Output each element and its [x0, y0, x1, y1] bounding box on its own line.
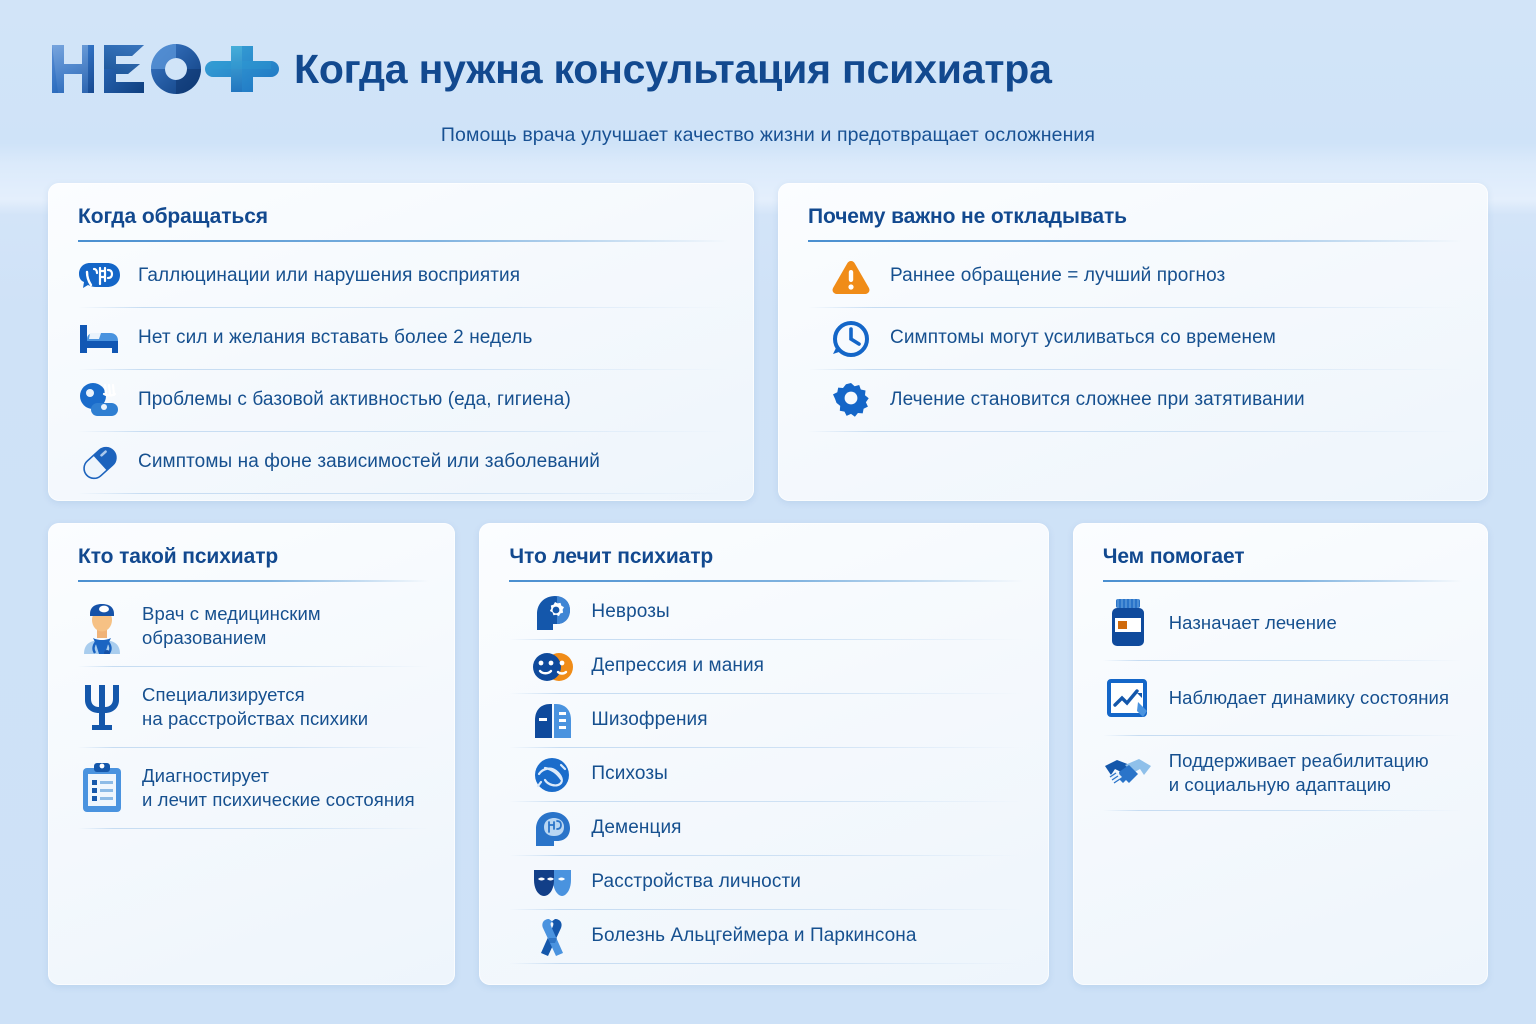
list-item-label: Специализируется на расстройствах психик… — [142, 683, 368, 730]
list-item-label: Болезнь Альцгеймера и Паркинсона — [591, 924, 916, 948]
list-item-label: Раннее обращение = лучший прогноз — [890, 264, 1225, 288]
theater-masks-icon — [531, 862, 575, 904]
split-head-icon — [531, 700, 575, 742]
page-title: Когда нужна консультация психиатра — [294, 46, 1052, 93]
label-line-2: и социальную адаптацию — [1169, 774, 1391, 795]
title-divider — [808, 240, 1462, 242]
head-brain-icon — [531, 808, 575, 850]
gear-icon — [830, 381, 872, 421]
page-header: Когда нужна консультация психиатра — [0, 0, 1536, 108]
list-item-label: Лечение становится сложнее при затятиван… — [890, 388, 1305, 412]
treats-list: Неврозы Депрессия и мания — [509, 586, 1022, 964]
two-faces-icon — [531, 646, 575, 688]
head-gear-icon — [531, 592, 575, 634]
row-divider — [509, 963, 1022, 964]
list-item-label: Диагностирует и лечит психические состоя… — [142, 764, 415, 811]
label-line-2: и лечит психические состояния — [142, 789, 415, 810]
label-line-1: Специализируется — [142, 684, 305, 705]
title-divider — [78, 580, 429, 582]
doctor-avatar-icon — [78, 598, 126, 654]
clipboard-icon — [78, 760, 126, 816]
list-item-label: Симптомы на фоне зависимостей или заболе… — [138, 450, 600, 474]
card-title: Что лечит психиатр — [509, 545, 1022, 569]
label-line-2: образованием — [142, 627, 267, 648]
clock-icon — [830, 319, 872, 359]
list-item[interactable]: Раннее обращение = лучший прогноз — [808, 246, 1462, 307]
awareness-ribbon-icon — [531, 916, 575, 958]
psi-symbol-icon — [78, 679, 126, 735]
list-item-label: Назначает лечение — [1169, 611, 1337, 635]
list-item-label: Неврозы — [591, 600, 669, 624]
chart-pen-icon — [1103, 671, 1153, 725]
card-how-it-helps: Чем помогает Назначает лечение — [1073, 523, 1488, 985]
card-who-is-psychiatrist: Кто такой психиатр — [48, 523, 455, 985]
list-item[interactable]: Наблюдает динамику состояния — [1103, 661, 1462, 735]
when-list: Галлюцинации или нарушения восприятия Не… — [78, 246, 728, 494]
list-item-label: Врач с медицинским образованием — [142, 602, 321, 649]
label-line-1: Поддерживает реабилитацию — [1169, 750, 1429, 771]
row-divider — [1103, 810, 1462, 811]
top-row: Когда обращаться Галлюцинации или наруше… — [0, 183, 1536, 501]
helps-list: Назначает лечение Наблюдает динамику сос… — [1103, 586, 1462, 811]
list-item[interactable]: Нет сил и желания вставать более 2 недел… — [78, 308, 728, 369]
capsule-icon — [78, 443, 122, 483]
card-what-psychiatrist-treats: Что лечит психиатр Неврозы — [479, 523, 1048, 985]
card-why-not-delay: Почему важно не откладывать Раннее обращ… — [778, 183, 1488, 501]
list-item[interactable]: Лечение становится сложнее при затятиван… — [808, 370, 1462, 431]
list-item-label: Проблемы с базовой активностью (еда, гиг… — [138, 388, 571, 412]
row-divider — [808, 431, 1462, 432]
list-item[interactable]: Неврозы — [509, 586, 1022, 639]
list-item[interactable]: Психозы — [509, 748, 1022, 801]
list-item-label: Депрессия и мания — [591, 654, 764, 678]
title-divider — [1103, 580, 1462, 582]
list-item-label: Нет сил и желания вставать более 2 недел… — [138, 326, 532, 350]
list-item[interactable]: Болезнь Альцгеймера и Паркинсона — [509, 910, 1022, 963]
list-item[interactable]: Врач с медицинским образованием — [78, 586, 429, 666]
list-item-label: Расстройства личности — [591, 870, 801, 894]
list-item[interactable]: Галлюцинации или нарушения восприятия — [78, 246, 728, 307]
bottom-row: Кто такой психиатр — [0, 523, 1536, 985]
card-when-to-consult: Когда обращаться Галлюцинации или наруше… — [48, 183, 754, 501]
list-item[interactable]: Симптомы могут усиливаться со временем — [808, 308, 1462, 369]
list-item[interactable]: Проблемы с базовой активностью (еда, гиг… — [78, 370, 728, 431]
list-item[interactable]: Диагностирует и лечит психические состоя… — [78, 748, 429, 828]
list-item-label: Галлюцинации или нарушения восприятия — [138, 264, 520, 288]
warning-triangle-icon — [830, 257, 872, 297]
tangled-head-icon — [531, 754, 575, 796]
list-item[interactable]: Назначает лечение — [1103, 586, 1462, 660]
list-item-label: Психозы — [591, 762, 667, 786]
why-list: Раннее обращение = лучший прогноз Симпто… — [808, 246, 1462, 432]
list-item[interactable]: Специализируется на расстройствах психик… — [78, 667, 429, 747]
card-title: Кто такой психиатр — [78, 545, 429, 569]
list-item[interactable]: Шизофрения — [509, 694, 1022, 747]
page-subtitle: Помощь врача улучшает качество жизни и п… — [0, 124, 1536, 147]
list-item[interactable]: Симптомы на фоне зависимостей или заболе… — [78, 432, 728, 493]
list-item-label: Симптомы могут усиливаться со временем — [890, 326, 1276, 350]
list-item[interactable]: Поддерживает реабилитацию и социальную а… — [1103, 736, 1462, 810]
card-title: Чем помогает — [1103, 545, 1462, 569]
list-item-label: Поддерживает реабилитацию и социальную а… — [1169, 749, 1429, 796]
neo-plus-logo — [48, 38, 280, 100]
row-divider — [78, 493, 728, 494]
card-title: Когда обращаться — [78, 205, 728, 229]
list-item[interactable]: Депрессия и мания — [509, 640, 1022, 693]
bed-icon — [78, 319, 122, 359]
handshake-icon — [1103, 746, 1153, 800]
hygiene-meal-icon — [78, 381, 122, 421]
label-line-2: на расстройствах психики — [142, 708, 368, 729]
list-item[interactable]: Деменция — [509, 802, 1022, 855]
title-divider — [509, 580, 1022, 582]
list-item-label: Деменция — [591, 816, 681, 840]
list-item[interactable]: Расстройства личности — [509, 856, 1022, 909]
label-line-1: Врач с медицинским — [142, 603, 321, 624]
brain-icon — [78, 257, 122, 297]
title-divider — [78, 240, 728, 242]
list-item-label: Шизофрения — [591, 708, 707, 732]
pill-bottle-icon — [1103, 596, 1153, 650]
label-line-1: Диагностирует — [142, 765, 269, 786]
card-title: Почему важно не откладывать — [808, 205, 1462, 229]
who-list: Врач с медицинским образованием Специали… — [78, 586, 429, 829]
list-item-label: Наблюдает динамику состояния — [1169, 686, 1449, 710]
row-divider — [78, 828, 429, 829]
